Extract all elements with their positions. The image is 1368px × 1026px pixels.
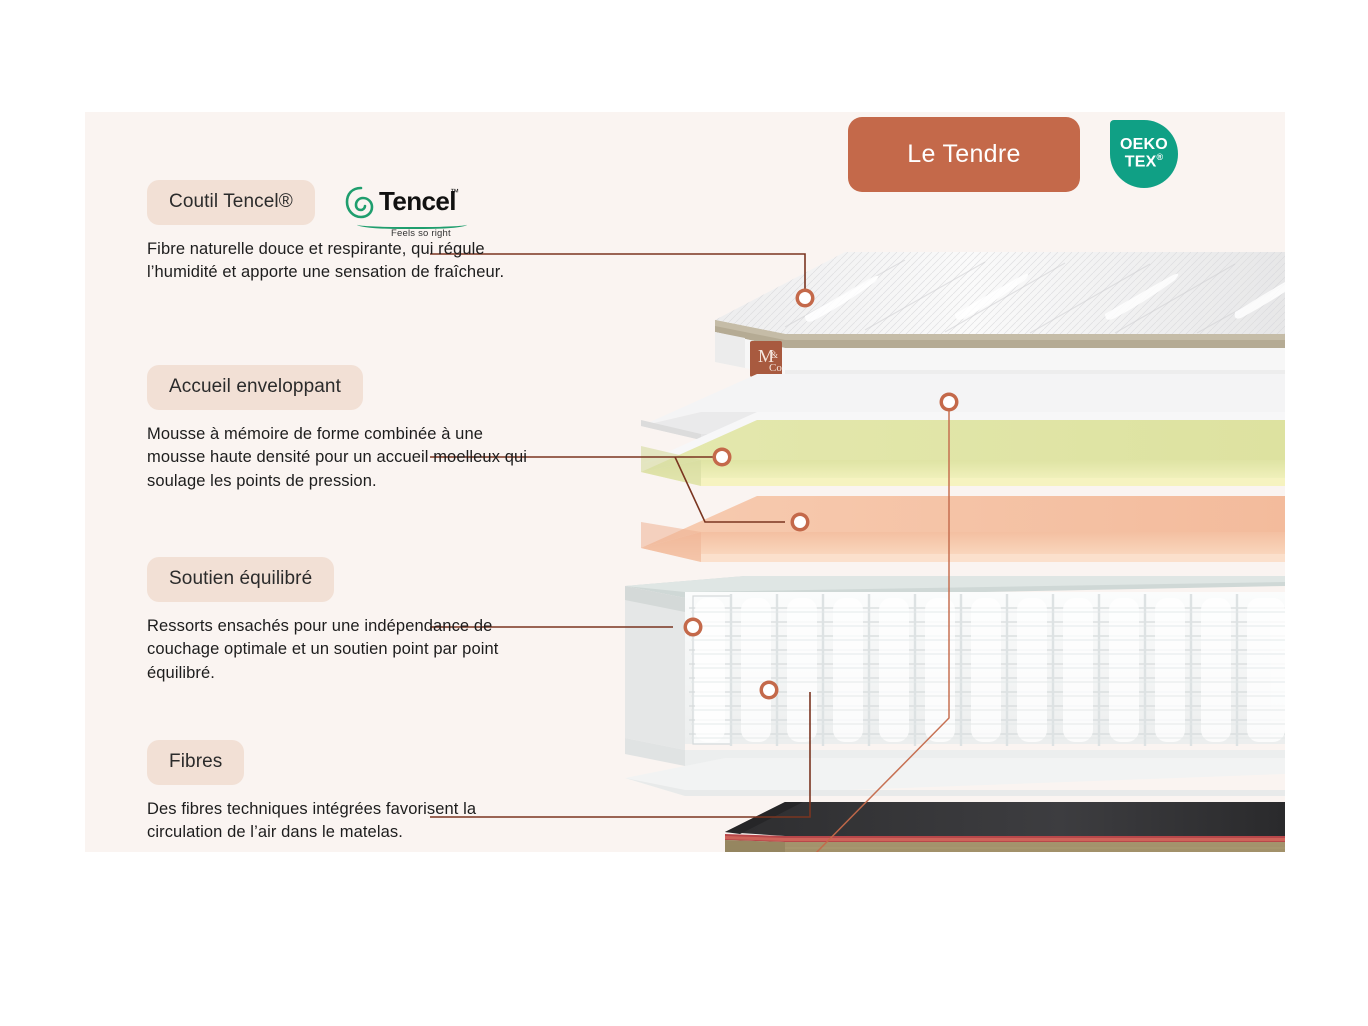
section-description-soutien-equilibre: Ressorts ensachés pour une indépendance … bbox=[147, 615, 537, 685]
product-title: Le Tendre bbox=[907, 140, 1020, 169]
product-title-badge: Le Tendre bbox=[848, 117, 1080, 192]
section-label-fibres: Fibres bbox=[147, 740, 244, 785]
section-fibres: Fibres Des fibres techniques intégrées f… bbox=[147, 740, 537, 845]
connector-dots bbox=[684, 289, 959, 700]
dot-memory-foam bbox=[713, 448, 732, 467]
connector-accueil-branch bbox=[675, 457, 785, 522]
section-description-coutil-tencel: Fibre naturelle douce et respirante, qui… bbox=[147, 238, 537, 285]
section-label-soutien-equilibre: Soutien équilibré bbox=[147, 557, 334, 602]
oeko-tex-badge: OEKO TEX® bbox=[1110, 120, 1178, 188]
dot-white-foam bbox=[940, 393, 959, 412]
dot-springs bbox=[684, 618, 703, 637]
section-label-coutil-tencel: Coutil Tencel® bbox=[147, 180, 315, 225]
connector-long-diagonal bbox=[812, 408, 949, 852]
section-accueil-enveloppant: Accueil enveloppant Mousse à mémoire de … bbox=[147, 365, 537, 493]
dot-highdensity-foam bbox=[791, 513, 810, 532]
section-soutien-equilibre: Soutien équilibré Ressorts ensachés pour… bbox=[147, 557, 537, 685]
section-description-accueil-enveloppant: Mousse à mémoire de forme combinée à une… bbox=[147, 423, 537, 493]
dot-cover bbox=[796, 289, 815, 308]
section-coutil-tencel: Coutil Tencel® Fibre naturelle douce et … bbox=[147, 180, 537, 285]
section-label-accueil-enveloppant: Accueil enveloppant bbox=[147, 365, 363, 410]
oeko-line-2: TEX® bbox=[1125, 153, 1164, 171]
oeko-line-1: OEKO bbox=[1120, 137, 1168, 153]
section-description-fibres: Des fibres techniques intégrées favorise… bbox=[147, 798, 537, 845]
infographic-panel: M & Co bbox=[85, 112, 1285, 852]
dot-fibres bbox=[760, 681, 779, 700]
